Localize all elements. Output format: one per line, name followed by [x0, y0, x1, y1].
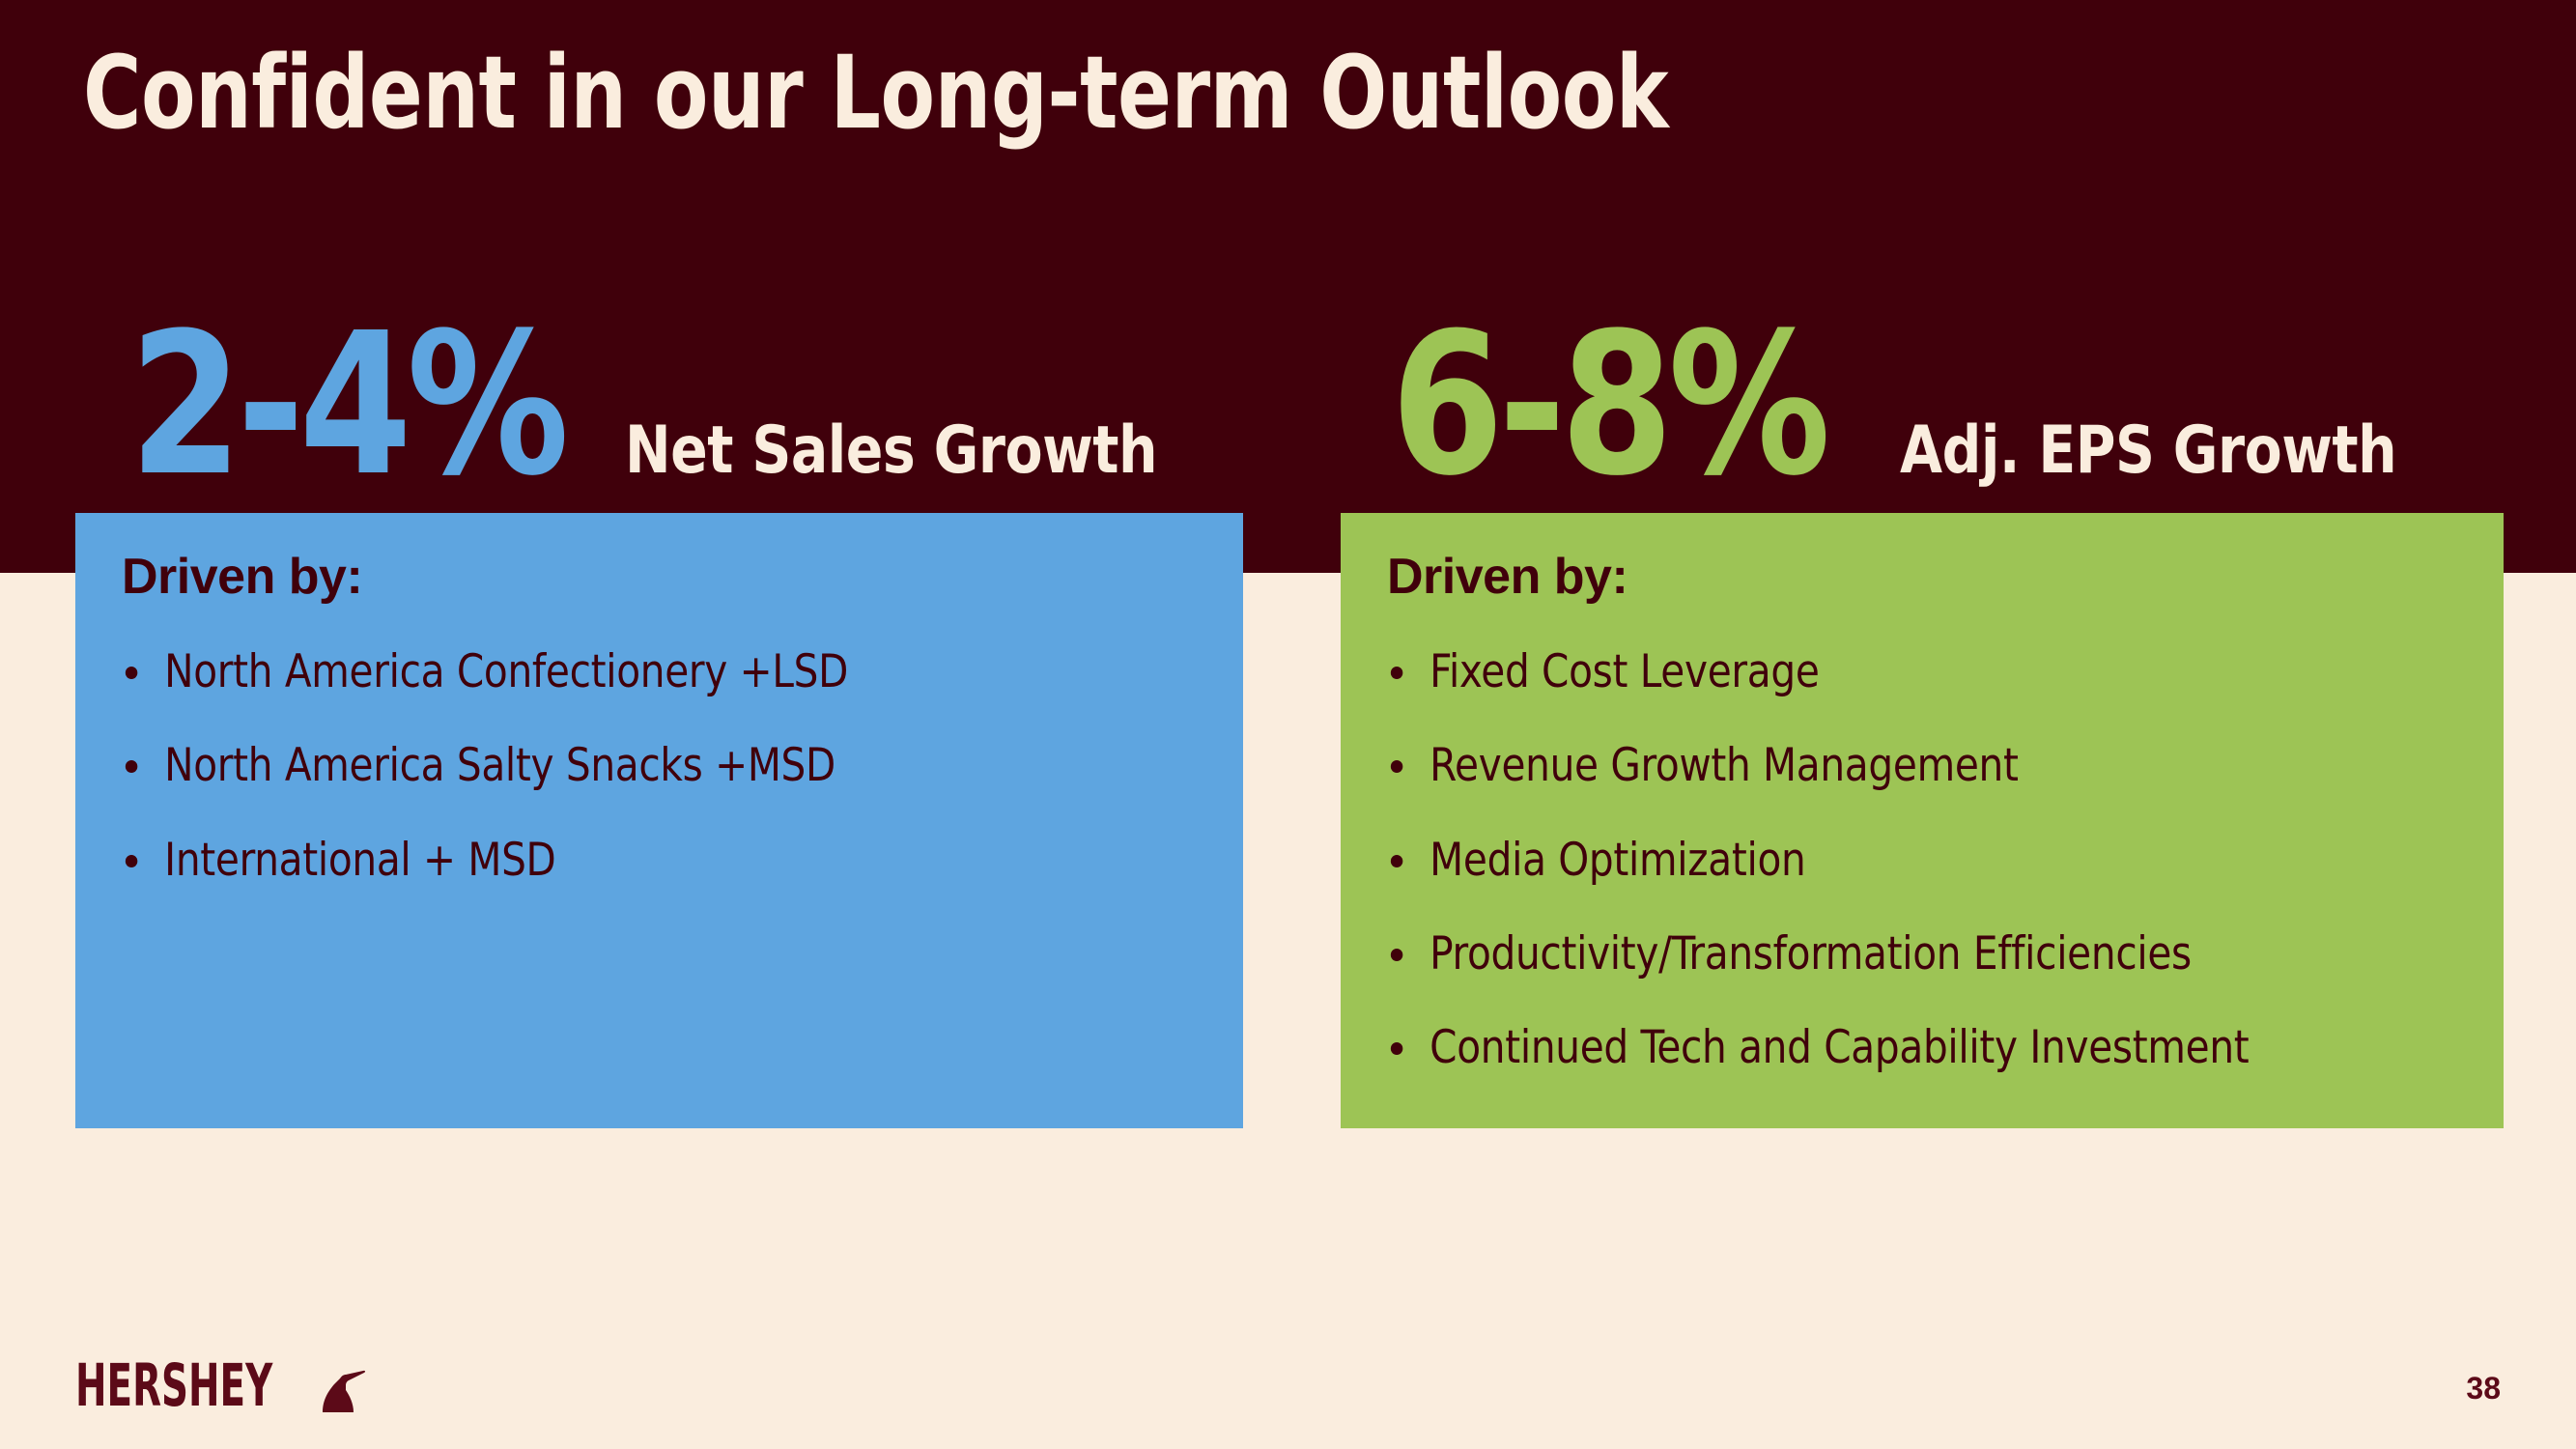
list-item: Fixed Cost Leverage [1387, 644, 2415, 699]
bullet-dot-icon [1391, 855, 1402, 867]
list-item: North America Salty Snacks +MSD [122, 738, 1153, 793]
panel-net-sales-heading: Driven by: [122, 552, 1197, 602]
bullet-dot-icon [1391, 949, 1402, 961]
bullet-dot-icon [1391, 667, 1402, 679]
list-item: Continued Tech and Capability Investment [1387, 1020, 2415, 1075]
list-item-label: Media Optimization [1430, 834, 1805, 887]
hershey-logo: HERSHEY [75, 1355, 367, 1413]
slide-canvas: Confident in our Long-term Outlook 2-4% … [0, 0, 2576, 1449]
panel-net-sales: Driven by: North America Confectionery +… [75, 513, 1243, 1128]
list-item-label: North America Confectionery +LSD [164, 645, 848, 698]
bullet-dot-icon [1391, 1042, 1402, 1055]
list-item-label: Revenue Growth Management [1430, 739, 2018, 792]
bullet-dot-icon [126, 855, 137, 867]
metric-net-sales: 2-4% Net Sales Growth [129, 307, 1197, 503]
metric-adj-eps-value: 6-8% [1391, 307, 1826, 503]
panel-net-sales-list: North America Confectionery +LSD North A… [122, 644, 1197, 888]
bullet-dot-icon [1391, 760, 1402, 773]
panel-adj-eps-list: Fixed Cost Leverage Revenue Growth Manag… [1387, 644, 2457, 1076]
list-item: International + MSD [122, 833, 1153, 888]
bullet-dot-icon [126, 760, 137, 773]
list-item-label: Productivity/Transformation Efficiencies [1430, 927, 2192, 980]
list-item-label: Fixed Cost Leverage [1430, 645, 1819, 698]
list-item: Media Optimization [1387, 833, 2415, 888]
list-item: Productivity/Transformation Efficiencies [1387, 926, 2415, 981]
metric-adj-eps: 6-8% Adj. EPS Growth [1391, 307, 2434, 503]
bullet-dot-icon [126, 667, 137, 679]
list-item: Revenue Growth Management [1387, 738, 2415, 793]
list-item-label: North America Salty Snacks +MSD [164, 739, 835, 792]
list-item: North America Confectionery +LSD [122, 644, 1153, 699]
metric-adj-eps-label: Adj. EPS Growth [1900, 418, 2396, 484]
metric-net-sales-value: 2-4% [129, 307, 564, 503]
page-number: 38 [2466, 1371, 2501, 1406]
list-item-label: International + MSD [164, 834, 555, 887]
metric-net-sales-label: Net Sales Growth [625, 418, 1157, 484]
slide-title: Confident in our Long-term Outlook [83, 43, 1668, 143]
panel-adj-eps-heading: Driven by: [1387, 552, 2457, 602]
hershey-wordmark: HERSHEY [75, 1358, 272, 1413]
hershey-kiss-icon [317, 1367, 367, 1413]
list-item-label: Continued Tech and Capability Investment [1430, 1021, 2249, 1074]
panel-adj-eps: Driven by: Fixed Cost Leverage Revenue G… [1341, 513, 2504, 1128]
